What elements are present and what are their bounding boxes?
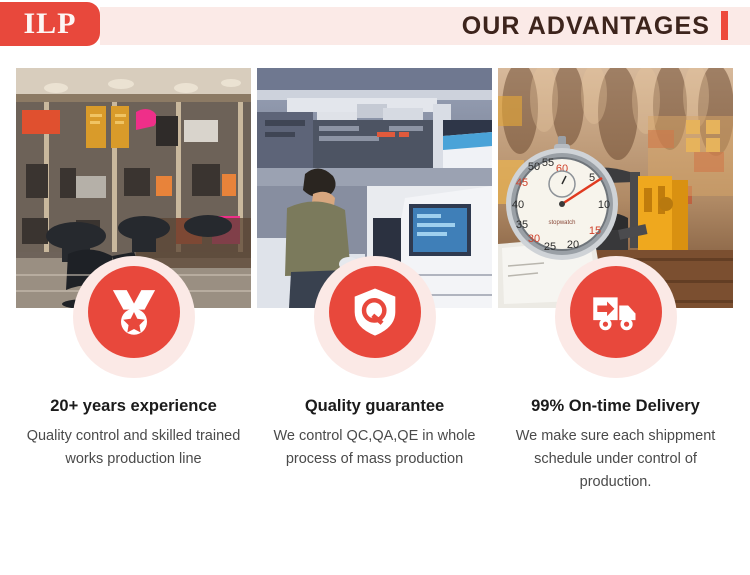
svg-text:50: 50	[528, 161, 540, 173]
advantage-texts: 20+ years experience Quality control and…	[16, 395, 734, 494]
svg-text:40: 40	[512, 199, 524, 211]
medal-icon	[88, 266, 180, 358]
svg-text:10: 10	[598, 199, 610, 211]
svg-text:45: 45	[516, 177, 528, 189]
title-accent-bar	[721, 11, 728, 40]
svg-text:35: 35	[516, 219, 528, 231]
advantage-text-3: 99% On-time Delivery We make sure each s…	[498, 395, 733, 494]
svg-text:25: 25	[544, 241, 556, 253]
svg-text:15: 15	[589, 225, 601, 237]
advantage-cards: 60 5 10 15 20 25 30 35 40 45 50 55	[16, 68, 734, 388]
advantage-card-1	[16, 68, 251, 388]
page-title: OUR ADVANTAGES	[462, 9, 710, 43]
advantages-banner: ILP OUR ADVANTAGES	[0, 0, 750, 575]
svg-text:60: 60	[556, 163, 568, 175]
brand-logo-text: ILP	[23, 9, 76, 39]
svg-text:stopwatch: stopwatch	[548, 220, 575, 226]
card-title: 99% On-time Delivery	[498, 395, 733, 417]
delivery-truck-icon	[570, 266, 662, 358]
advantage-text-1: 20+ years experience Quality control and…	[16, 395, 251, 494]
advantage-card-3: 60 5 10 15 20 25 30 35 40 45 50 55	[498, 68, 733, 388]
card-description: We control QC,QA,QE in whole process of …	[257, 425, 492, 471]
header: ILP OUR ADVANTAGES	[0, 0, 750, 56]
card-description: We make sure each shippment schedule und…	[498, 425, 733, 494]
svg-text:55: 55	[542, 157, 554, 169]
advantage-card-2	[257, 68, 492, 388]
card-title: 20+ years experience	[16, 395, 251, 417]
shield-q-icon	[329, 266, 421, 358]
svg-text:20: 20	[567, 239, 579, 251]
advantage-text-2: Quality guarantee We control QC,QA,QE in…	[257, 395, 492, 494]
svg-text:30: 30	[528, 233, 540, 245]
brand-logo: ILP	[0, 2, 100, 46]
card-title: Quality guarantee	[257, 395, 492, 417]
card-description: Quality control and skilled trained work…	[16, 425, 251, 471]
